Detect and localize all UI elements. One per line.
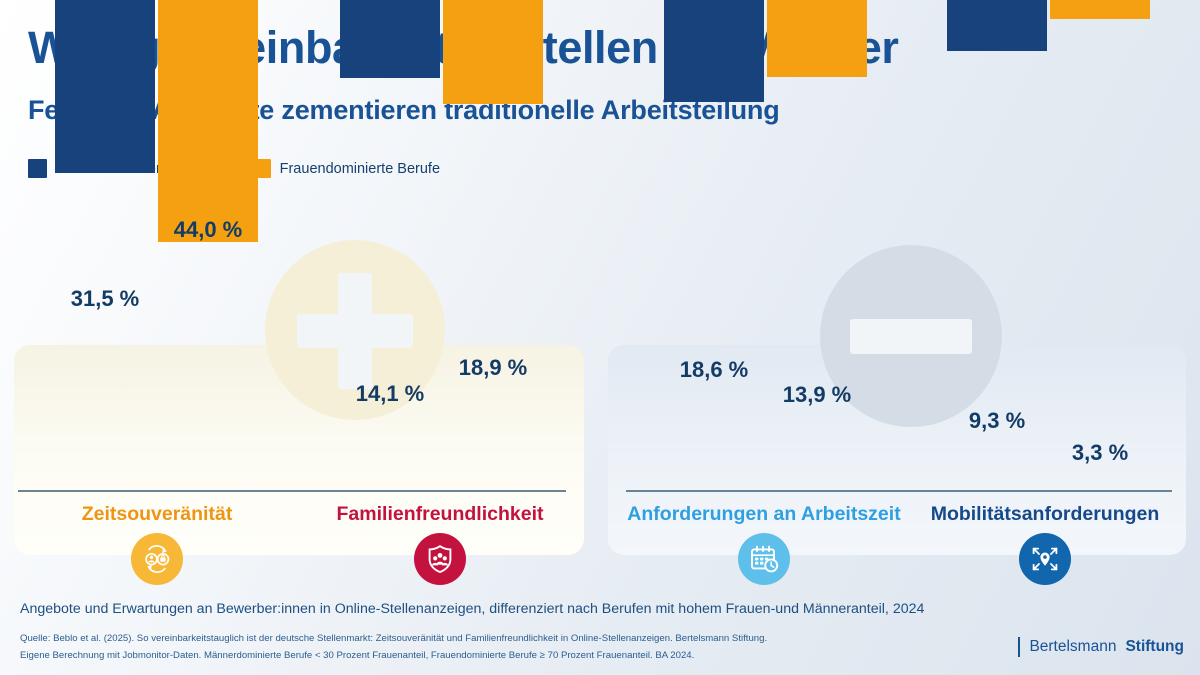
chart-caption: Angebote und Erwartungen an Bewerber:inn…	[20, 601, 1180, 617]
bar-rect	[158, 0, 258, 242]
infographic-root: Wenig Vereinbarkeit in Stellen für Männe…	[0, 0, 1200, 675]
footer-divider	[0, 592, 1200, 593]
family-shield-icon	[414, 533, 466, 585]
bar-rect	[947, 0, 1047, 51]
bar-value-zeit-maenner: 31,5 %	[71, 286, 140, 312]
mobility-pin-icon	[1019, 533, 1071, 585]
calendar-clock-icon	[738, 533, 790, 585]
bar-rect	[443, 0, 543, 104]
bar-zeitsouveraenitaet-maenner[interactable]: 31,5 %	[55, 0, 155, 490]
bar-arbeitszeit-maenner[interactable]: 18,6 %	[664, 0, 764, 490]
category-label-zeitsouveraenitaet: Zeitsouveränität	[82, 503, 233, 526]
bar-value-fam-frauen: 18,9 %	[459, 355, 528, 381]
bar-value-mobilitaet-maenner: 9,3 %	[969, 408, 1025, 434]
category-label-familienfreundlichkeit: Familienfreundlichkeit	[337, 503, 544, 526]
category-label-anforderungen-arbeitszeit: Anforderungen an Arbeitszeit	[627, 503, 900, 526]
bar-mobilitaet-maenner[interactable]: 9,3 %	[947, 0, 1047, 490]
source-line-1: Quelle: Beblo et al. (2025). So vereinba…	[20, 631, 1020, 648]
bar-value-arbeitszeit-maenner: 18,6 %	[680, 357, 749, 383]
bar-rect	[340, 0, 440, 78]
bar-zeitsouveraenitaet-frauen[interactable]: 44,0 %	[158, 0, 258, 490]
bar-value-fam-maenner: 14,1 %	[356, 381, 425, 407]
bar-value-zeit-frauen: 44,0 %	[174, 217, 243, 243]
source-line-2: Eigene Berechnung mit Jobmonitor-Daten. …	[20, 648, 1020, 665]
bertelsmann-stiftung-logo[interactable]: BertelsmannStiftung	[1018, 637, 1184, 657]
legend-swatch-navy-icon	[28, 159, 47, 178]
bar-familienfreundlichkeit-frauen[interactable]: 18,9 %	[443, 0, 543, 490]
logo-text-bold: Stiftung	[1125, 638, 1184, 656]
bar-mobilitaet-frauen[interactable]: 3,3 %	[1050, 0, 1150, 490]
bar-value-mobilitaet-frauen: 3,3 %	[1072, 440, 1128, 466]
bar-rect	[1050, 0, 1150, 19]
axis-baseline-right	[626, 490, 1172, 492]
logo-bar-icon	[1018, 637, 1021, 657]
bar-arbeitszeit-frauen[interactable]: 13,9 %	[767, 0, 867, 490]
bar-rect	[55, 0, 155, 173]
bar-rect	[664, 0, 764, 102]
axis-baseline-left	[18, 490, 566, 492]
work-life-balance-icon	[131, 533, 183, 585]
category-label-mobilitaetsanforderungen: Mobilitätsanforderungen	[931, 503, 1160, 526]
bar-value-arbeitszeit-frauen: 13,9 %	[783, 382, 852, 408]
logo-text-light: Bertelsmann	[1029, 638, 1116, 656]
bar-rect	[767, 0, 867, 77]
source-note: Quelle: Beblo et al. (2025). So vereinba…	[20, 631, 1020, 664]
bar-familienfreundlichkeit-maenner[interactable]: 14,1 %	[340, 0, 440, 490]
